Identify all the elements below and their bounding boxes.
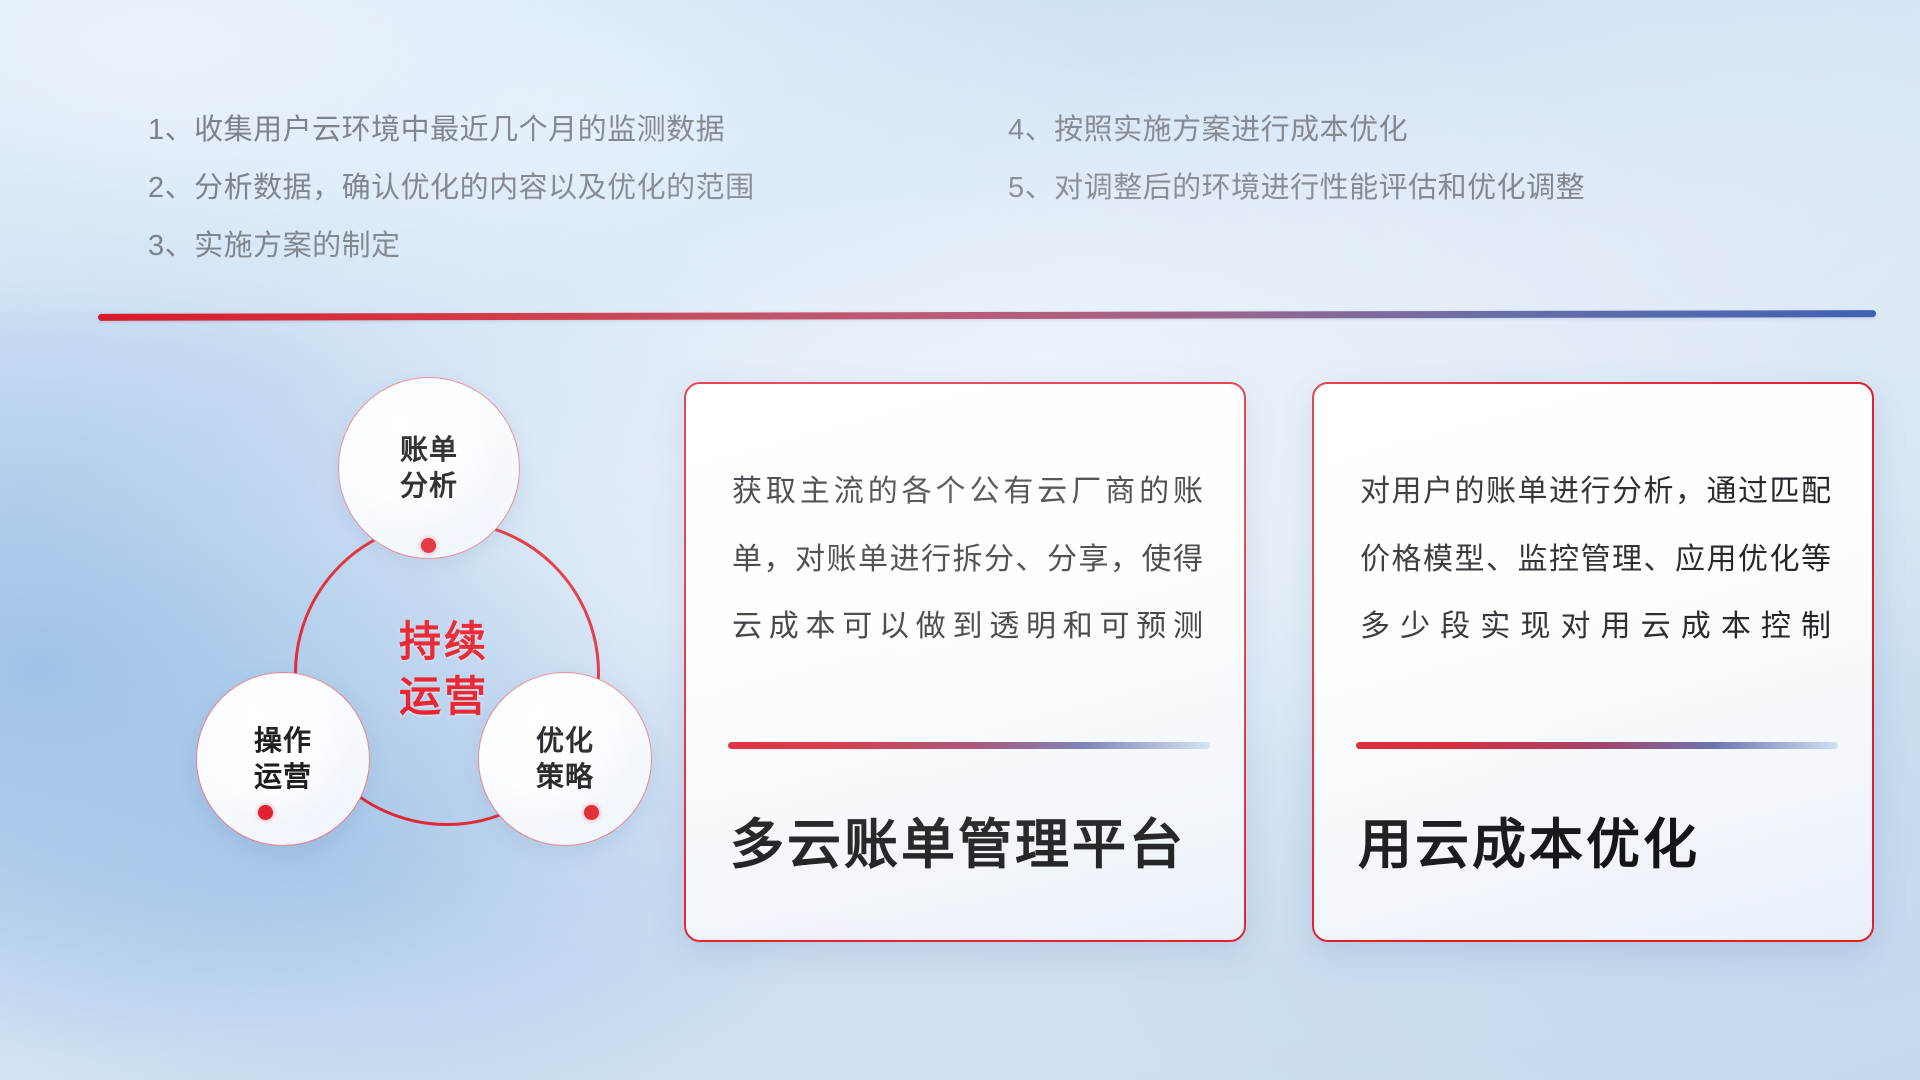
continuous-operation-diagram: 持续 运营 账单 分析 操作 运营 优化 策略 [96, 350, 656, 950]
bubble-optimization-strategy-line-1: 优化 [536, 723, 594, 759]
center-label-line-2: 运营 [399, 670, 489, 725]
step-item-2: 2、分析数据，确认优化的内容以及优化的范围 [148, 164, 755, 206]
bubble-operation-line-2: 运营 [254, 759, 312, 795]
bubble-bill-analysis[interactable]: 账单 分析 [338, 377, 520, 559]
card-1-title: 多云账单管理平台 [730, 800, 1214, 879]
bubble-bill-analysis-line-1: 账单 [400, 432, 458, 468]
step-item-1: 1、收集用户云环境中最近几个月的监测数据 [148, 106, 725, 148]
card-1-body: 获取主流的各个公有云厂商的账单，对账单进行拆分、分享，使得云成本可以做到透明和可… [732, 458, 1204, 661]
connector-dot-right [584, 805, 599, 820]
process-steps: 1、收集用户云环境中最近几个月的监测数据 2、分析数据，确认优化的内容以及优化的… [0, 92, 1920, 252]
card-2-title: 用云成本优化 [1358, 800, 1842, 879]
step-item-3: 3、实施方案的制定 [148, 222, 401, 264]
card-1-rule [728, 742, 1210, 749]
card-cloud-cost-optimization[interactable]: 对用户的账单进行分析，通过匹配价格模型、监控管理、应用优化等多少段实现对用云成本… [1312, 382, 1874, 942]
card-2-rule [1356, 742, 1838, 749]
slide-canvas: 1、收集用户云环境中最近几个月的监测数据 2、分析数据，确认优化的内容以及优化的… [0, 0, 1920, 1080]
connector-dot-top [421, 538, 436, 553]
bubble-bill-analysis-line-2: 分析 [400, 468, 458, 504]
bubble-operation-line-1: 操作 [254, 723, 312, 759]
step-item-4: 4、按照实施方案进行成本优化 [1008, 106, 1408, 148]
connector-dot-left [258, 805, 273, 820]
step-item-5: 5、对调整后的环境进行性能评估和优化调整 [1008, 164, 1585, 206]
bubble-operation[interactable]: 操作 运营 [196, 672, 370, 846]
center-label-line-1: 持续 [399, 615, 489, 670]
card-2-body: 对用户的账单进行分析，通过匹配价格模型、监控管理、应用优化等多少段实现对用云成本… [1360, 458, 1832, 661]
section-divider [98, 310, 1876, 321]
feature-cards: 获取主流的各个公有云厂商的账单，对账单进行拆分、分享，使得云成本可以做到透明和可… [684, 382, 1874, 952]
bubble-optimization-strategy-line-2: 策略 [536, 759, 594, 795]
bubble-optimization-strategy[interactable]: 优化 策略 [478, 672, 652, 846]
card-multicloud-billing-platform[interactable]: 获取主流的各个公有云厂商的账单，对账单进行拆分、分享，使得云成本可以做到透明和可… [684, 382, 1246, 942]
